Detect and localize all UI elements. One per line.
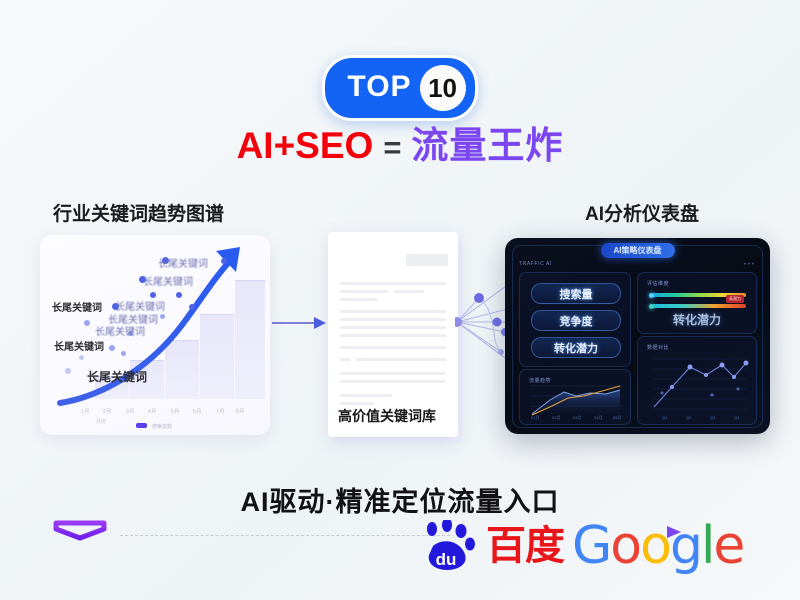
- top-badge-number: 10: [420, 65, 466, 111]
- doc-text-line: [340, 282, 446, 285]
- footer-tagline: AI驱动·精准定位流量入口: [0, 480, 800, 519]
- google-letter: G: [572, 516, 610, 576]
- bar-chart-icon: [50, 487, 114, 543]
- axis-tick: 6月: [193, 408, 202, 415]
- top-badge-wrapper: TOP 10: [0, 55, 800, 121]
- axis-tick: 04月: [594, 415, 602, 421]
- scatter-dot: [176, 292, 182, 298]
- baidu-paw-icon: du: [420, 520, 478, 572]
- scatter-dot: [160, 314, 165, 319]
- top-badge-label: TOP: [347, 72, 411, 104]
- scatter-dot: [189, 304, 195, 310]
- gauge-marker: [649, 304, 654, 309]
- metric-button-conversion[interactable]: 转化潜力: [531, 337, 621, 358]
- baidu-logo-text: 百度: [486, 526, 564, 566]
- metric-button-search-volume[interactable]: 搜索量: [531, 283, 621, 304]
- headline-right: 流量王炸: [411, 125, 563, 166]
- left-section-title: 行业关键词趋势图谱: [53, 199, 224, 226]
- doc-text-line: [340, 290, 388, 293]
- doc-text-line: [340, 372, 446, 375]
- metric-buttons-panel: 搜索量 竞争度 转化潜力: [519, 272, 631, 367]
- keyword-trend-card: 长尾关键词 长尾关键词 长尾关键词 长尾关键词 长尾关键词 长尾关键词 长尾关键…: [40, 235, 270, 435]
- scatter-dot: [79, 355, 84, 360]
- axis-tick: 5月: [171, 408, 180, 415]
- headline-left: AI+SEO: [237, 125, 374, 166]
- document-label: 高价值关键词库: [338, 406, 436, 426]
- doc-text-line: [340, 298, 378, 301]
- panel-title: 评估维度: [647, 280, 669, 287]
- right-section-title: AI分析仪表盘: [585, 199, 699, 226]
- axis-tick: 7月: [216, 408, 225, 415]
- doc-text-line: [340, 318, 446, 321]
- doc-text-line: [340, 326, 446, 329]
- doc-text-line: [340, 346, 446, 349]
- legend-label: 搜索指数: [152, 423, 172, 430]
- flow-arrow-icon: [272, 315, 328, 331]
- google-letter: l: [701, 516, 713, 576]
- axis-tick: 05月: [613, 415, 621, 421]
- keyword-library-document: 高价值关键词库: [328, 232, 458, 437]
- keyword-label: 长尾关键词: [87, 368, 147, 385]
- doc-text-line: [340, 358, 350, 361]
- metric-button-competition[interactable]: 竞争度: [531, 310, 621, 331]
- axis-tick: Q1: [662, 415, 667, 420]
- axis-tick: 02月: [552, 415, 560, 421]
- search-engine-logos: du 百度 Google: [420, 520, 743, 572]
- keyword-label-blurred: 长尾关键词: [95, 323, 145, 338]
- doc-text-line: [340, 334, 446, 337]
- google-letter: g: [670, 516, 701, 576]
- gauge-label: 转化潜力: [638, 311, 756, 328]
- doc-text-line: [340, 394, 392, 397]
- axis-tick: 4月: [148, 408, 157, 415]
- gauge-tag: 高潜力: [726, 295, 744, 303]
- scatter-dot: [65, 368, 71, 374]
- axis-caption: 月份: [96, 418, 106, 425]
- legend-swatch: [136, 423, 147, 428]
- top-badge: TOP 10: [322, 55, 477, 121]
- axis-tick: Q3: [710, 415, 715, 420]
- axis-tick: 01月: [531, 415, 539, 421]
- headline-equals: =: [383, 130, 401, 165]
- axis-tick: 1月: [81, 408, 90, 415]
- dashboard-brand: TRAFFIC AI: [519, 261, 552, 267]
- scatter-dot: [84, 320, 90, 326]
- dashboard-menu-icon[interactable]: •••: [744, 262, 756, 268]
- dashed-connector: [120, 535, 450, 536]
- axis-tick: Q4: [734, 415, 739, 420]
- growth-arrow-icon: [40, 235, 270, 435]
- scatter-dot: [221, 258, 227, 264]
- doc-text-line: [340, 380, 446, 383]
- baidu-du-text: du: [436, 550, 457, 569]
- gauge-marker: [649, 293, 654, 298]
- gauge-bar-secondary: [652, 304, 746, 308]
- google-letter: e: [713, 516, 743, 576]
- keyword-label: 长尾关键词: [54, 338, 104, 353]
- doc-text-line: [340, 402, 374, 405]
- scatter-dot: [109, 345, 115, 351]
- axis-tick: 2月: [103, 408, 112, 415]
- doc-text-line: [340, 310, 446, 313]
- google-letter: o: [610, 516, 640, 576]
- headline: AI+SEO=流量王炸: [0, 126, 800, 167]
- google-logo: Google: [572, 520, 743, 572]
- doc-text-line: [356, 358, 446, 361]
- score-gauge-panel: 评估维度 高潜力 转化潜力: [637, 272, 757, 334]
- doc-header-block: [406, 254, 448, 266]
- axis-tick: 8月: [236, 408, 245, 415]
- google-letter: o: [640, 516, 670, 576]
- poster-canvas: TOP 10 AI+SEO=流量王炸 行业关键词趋势图谱 AI分析仪表盘: [0, 0, 800, 600]
- keyword-label: 长尾关键词: [52, 299, 102, 314]
- axis-tick: Q2: [686, 415, 691, 420]
- axis-tick: 3月: [126, 408, 135, 415]
- ai-dashboard-card: AI策略仪表盘 TRAFFIC AI ••• 搜索量 竞争度 转化潜力 流量趋势: [505, 238, 770, 434]
- scatter-dot: [121, 351, 126, 356]
- line-chart: [638, 337, 756, 424]
- keyword-label-blurred: 长尾关键词: [143, 273, 193, 288]
- keyword-label-blurred: 长尾关键词: [158, 255, 208, 270]
- doc-text-line: [394, 290, 424, 293]
- traffic-trend-panel: 流量趋势 01月 02月 03月 0: [519, 369, 631, 425]
- data-comparison-panel: 数据对比 Q1: [637, 336, 757, 425]
- dashboard-title-pill: AI策略仪表盘: [601, 243, 675, 258]
- axis-tick: 03月: [573, 415, 581, 421]
- trend-chart: 长尾关键词 长尾关键词 长尾关键词 长尾关键词 长尾关键词 长尾关键词 长尾关键…: [40, 235, 270, 435]
